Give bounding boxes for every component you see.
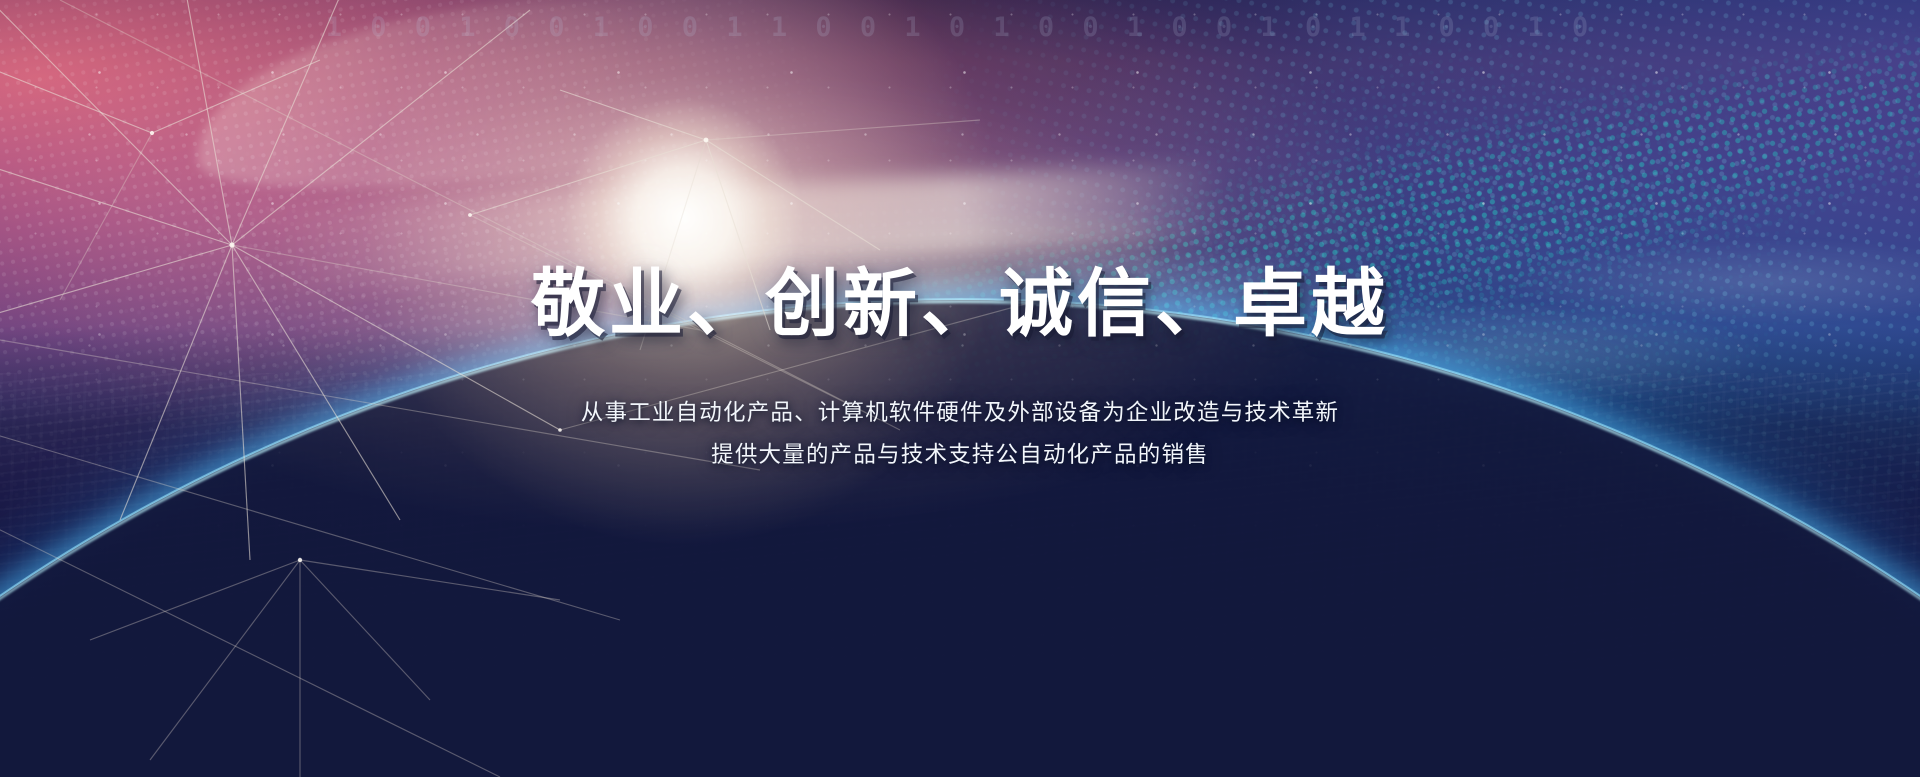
hero-copy-block: 敬业、创新、诚信、卓越 从事工业自动化产品、计算机软件硬件及外部设备为企业改造与… — [0, 262, 1920, 476]
hero-subtitle-line-1: 从事工业自动化产品、计算机软件硬件及外部设备为企业改造与技术革新 — [0, 392, 1920, 434]
binary-code-decor: 1 0 0 1 0 0 1 0 0 1 1 0 0 1 0 1 0 0 1 0 … — [0, 6, 1920, 48]
hero-banner: 1 0 0 1 0 0 1 0 0 1 1 0 0 1 0 1 0 0 1 0 … — [0, 0, 1920, 777]
hero-subtitle-line-2: 提供大量的产品与技术支持公自动化产品的销售 — [0, 434, 1920, 476]
hero-headline: 敬业、创新、诚信、卓越 — [0, 262, 1920, 348]
